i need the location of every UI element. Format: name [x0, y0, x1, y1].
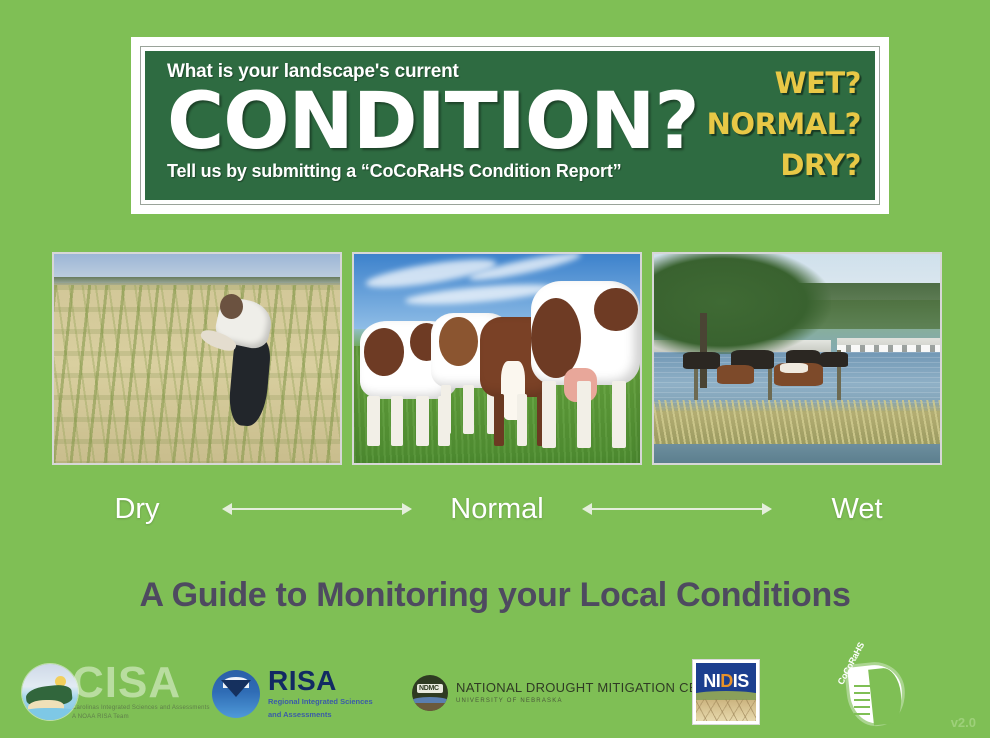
foreground-grass: [654, 400, 940, 446]
water-shape: [22, 708, 78, 720]
arrow-shaft: [590, 508, 764, 510]
arrow-shaft: [230, 508, 404, 510]
arrow-normal-to-wet: [582, 501, 772, 517]
banner-option-wet: WET?: [701, 63, 861, 104]
logo-cisa: CISA Carolinas Integrated Sciences and A…: [22, 663, 210, 721]
noaa-bird-shape: [221, 680, 251, 697]
condition-scale: Dry Normal Wet: [52, 487, 942, 531]
nidis-badge-inner: NIDIS: [696, 663, 756, 721]
risa-subtitle-line1: Regional Integrated Sciences: [268, 697, 373, 708]
photo-normal-cattle-pasture: [352, 252, 642, 465]
arrow-dry-to-normal: [222, 501, 412, 517]
cow-patch: [531, 298, 581, 378]
risa-acronym: RISA: [268, 667, 373, 695]
cow: [820, 352, 849, 367]
banner-option-dry: DRY?: [701, 145, 861, 186]
cow-patch: [594, 288, 637, 331]
arrow-right-head-icon: [402, 503, 412, 515]
photo-wet-flooded-pasture: [652, 252, 942, 465]
cisa-wordmark: CISA Carolinas Integrated Sciences and A…: [72, 663, 210, 721]
farmer-head: [220, 294, 243, 319]
rain-gauge-ticks: [854, 685, 870, 719]
banner-text-block: What is your landscape's current CONDITI…: [167, 57, 705, 194]
foreground-water: [654, 444, 940, 463]
condition-photo-row: [52, 252, 942, 465]
arrow-right-head-icon: [762, 503, 772, 515]
logo-cocorahs: CoCoRaHS: [838, 661, 912, 731]
banner-headline: CONDITION?: [167, 85, 705, 160]
scale-label-dry: Dry: [52, 493, 222, 526]
tree-trunk: [700, 313, 707, 388]
withered-corn-stalks: [54, 285, 340, 463]
cow: [717, 365, 754, 384]
banner-frame: What is your landscape's current CONDITI…: [140, 46, 880, 205]
soil-shape: [412, 703, 448, 711]
cow: [531, 281, 640, 448]
nidis-text-part1: NI: [703, 671, 720, 691]
sponsor-logo-bar: CISA Carolinas Integrated Sciences and A…: [0, 655, 990, 738]
cocorahs-raindrop-icon: CoCoRaHS: [838, 661, 912, 731]
risa-wordmark: RISA Regional Integrated Sciences and As…: [268, 667, 373, 720]
cisa-landscape-icon: [22, 664, 78, 720]
cow-patch: [364, 328, 405, 376]
ndmc-mark-text: NDMC: [419, 685, 439, 692]
cow-patch: [439, 317, 477, 365]
scale-label-wet: Wet: [772, 493, 942, 526]
nidis-wordmark: NIDIS: [696, 671, 756, 692]
cow-patch: [780, 363, 809, 373]
page-subtitle: A Guide to Monitoring your Local Conditi…: [0, 576, 990, 615]
logo-risa: RISA Regional Integrated Sciences and As…: [212, 667, 373, 720]
nidis-badge-icon: NIDIS: [692, 659, 760, 725]
logo-nidis: NIDIS: [692, 659, 760, 725]
banner-options-list: WET? NORMAL? DRY?: [701, 63, 861, 187]
ndmc-band: NDMC: [417, 684, 443, 693]
logo-ndmc: NDMC NATIONAL DROUGHT MITIGATION CENTER …: [412, 675, 734, 711]
version-label: v2.0: [951, 715, 976, 730]
risa-subtitle-line2: and Assessments: [268, 710, 373, 721]
scale-label-normal: Normal: [412, 493, 582, 526]
cisa-subtitle: Carolinas Integrated Sciences and Assess…: [72, 704, 210, 712]
noaa-seagull-icon: [212, 670, 260, 718]
cracked-earth-shape: [696, 699, 756, 721]
title-banner: What is your landscape's current CONDITI…: [131, 37, 889, 214]
cow: [683, 352, 720, 369]
banner-option-normal: NORMAL?: [701, 104, 861, 145]
leaf-cutout-shape: [868, 667, 904, 726]
nidis-text-part3: IS: [733, 671, 749, 691]
cisa-acronym: CISA: [72, 663, 210, 703]
nidis-text-part2: D: [720, 671, 733, 691]
large-tree: [652, 252, 831, 354]
cisa-tagline: A NOAA RISA Team: [72, 713, 210, 721]
photo-dry-drought-field: [52, 252, 342, 465]
banner-inner: What is your landscape's current CONDITI…: [145, 51, 875, 200]
cow-legs: [531, 381, 640, 448]
ndmc-seal-icon: NDMC: [412, 675, 448, 711]
